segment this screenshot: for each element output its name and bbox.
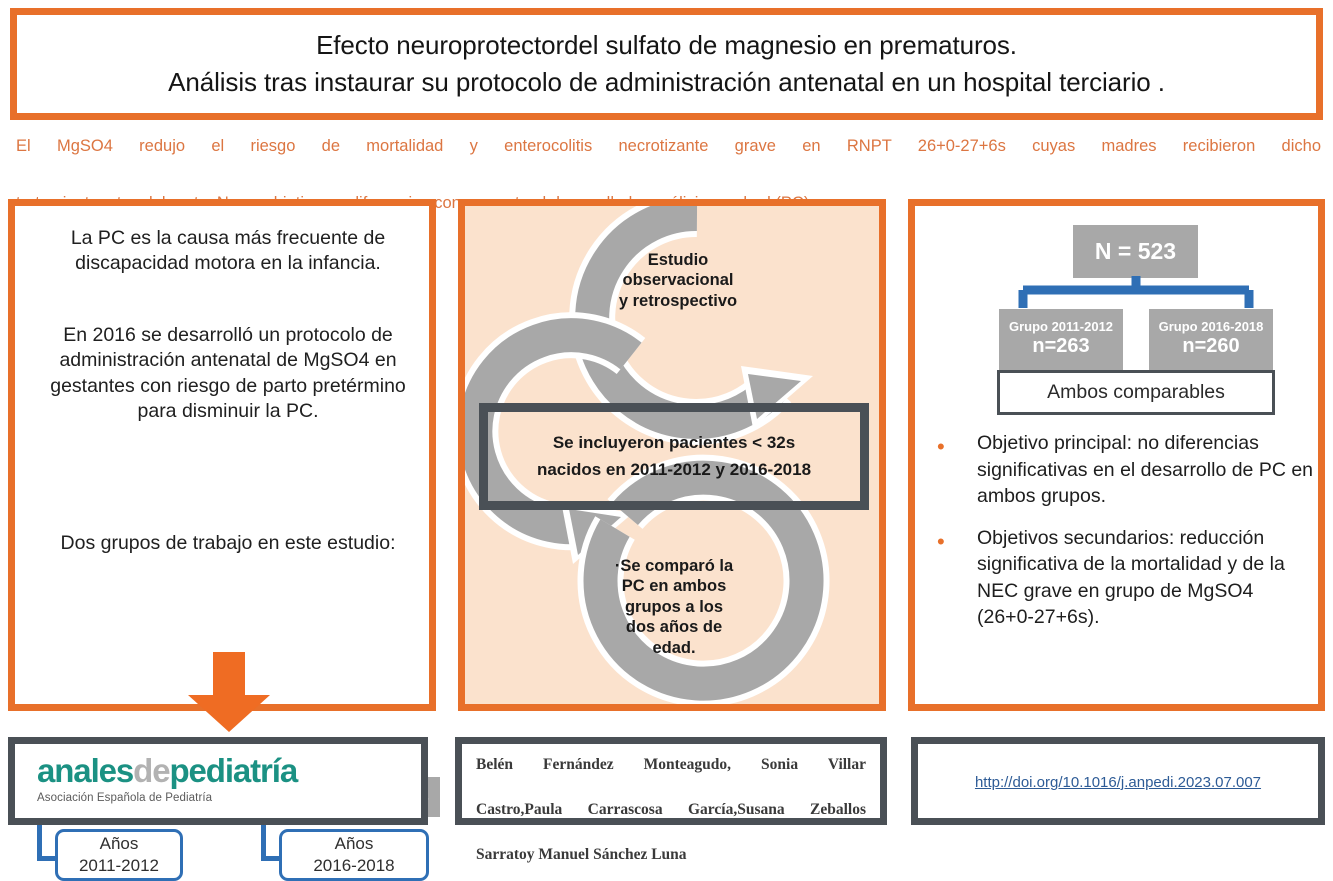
logo-wordmark: analesdepediatría — [37, 754, 367, 789]
journal-logo-box: analesdepediatría Asociación Española de… — [8, 737, 428, 825]
doi-link[interactable]: http://doi.org/10.1016/j.anpedi.2023.07.… — [918, 774, 1318, 791]
anales-de-pediatria-logo: analesdepediatría Asociación Española de… — [37, 754, 367, 804]
cycle-step-1-line-3: y retrospectivo — [619, 292, 737, 310]
cycle-step-1-line-2: observacional — [623, 271, 734, 289]
cycle-step-3-label: ·Se comparó la PC en ambos grupos a los … — [599, 556, 749, 658]
authors-box: Belén Fernández Monteagudo, Sonia Villar… — [455, 737, 887, 825]
cycle-step-1-line-1: Estudio — [648, 251, 709, 269]
years-box-post-protocol: Años 2016-2018 — [279, 829, 429, 881]
cycle-step-1-label: Estudio observacional y retrospectivo — [593, 250, 763, 311]
left-intro-text: La PC es la causa más frecuente de disca… — [31, 226, 425, 277]
years-label-pre: Años — [100, 833, 139, 855]
inclusion-line-1: Se incluyeron pacientes < 32s — [553, 430, 795, 456]
cycle-step-3-line-2: PC en ambos — [622, 577, 727, 595]
objective-item-primary: • Objetivo principal: no diferencias sig… — [931, 430, 1313, 510]
groups-label: Dos grupos de trabajo en este estudio: — [31, 531, 425, 556]
logo-subtitle: Asociación Española de Pediatría — [37, 792, 367, 804]
years-box-pre-protocol: Años 2011-2012 — [55, 829, 183, 881]
bullet-icon: • — [931, 525, 977, 553]
group-node-b-title: Grupo 2016-2018 — [1159, 320, 1264, 334]
group-node-a-title: Grupo 2011-2012 — [1009, 320, 1113, 334]
left-protocol-text: En 2016 se desarrolló un protocolo de ad… — [31, 323, 425, 424]
total-sample-node: N = 523 — [1073, 225, 1198, 278]
logo-word-de: de — [133, 752, 169, 789]
bullet-icon: • — [931, 430, 977, 458]
authors-line-3: Sarratoy Manuel Sánchez Luna — [476, 844, 866, 866]
inclusion-criteria-box: Se incluyeron pacientes < 32s nacidos en… — [479, 403, 869, 510]
authors-text: Belén Fernández Monteagudo, Sonia Villar… — [476, 754, 866, 866]
summary-line-1: El MgSO4 redujo el riesgo de mortalidad … — [16, 132, 1321, 189]
doi-box: http://doi.org/10.1016/j.anpedi.2023.07.… — [911, 737, 1325, 825]
objective-item-secondary: • Objetivos secundarios: reducción signi… — [931, 525, 1313, 631]
authors-line-1: Belén Fernández Monteagudo, Sonia Villar — [476, 754, 866, 799]
inclusion-line-2: nacidos en 2011-2012 y 2016-2018 — [537, 457, 811, 483]
title-banner: Efecto neuroprotectordel sulfato de magn… — [10, 8, 1323, 120]
comparable-box: Ambos comparables — [997, 370, 1275, 415]
cycle-step-3-line-4: dos años de — [626, 618, 722, 636]
group-node-2016-2018: Grupo 2016-2018 n=260 — [1149, 309, 1273, 370]
middle-panel: Estudio observacional y retrospectivo Se… — [458, 199, 886, 711]
cycle-step-3-line-5: edad. — [652, 639, 695, 657]
group-node-b-count: n=260 — [1182, 334, 1239, 359]
group-node-a-count: n=263 — [1032, 334, 1089, 359]
logo-word-anales: anales — [37, 752, 133, 789]
title-line-2: Análisis tras instaurar su protocolo de … — [168, 64, 1165, 101]
cycle-step-3-line-3: grupos a los — [625, 598, 723, 616]
title-line-1: Efecto neuroprotectordel sulfato de magn… — [316, 27, 1017, 64]
objective-primary-text: Objetivo principal: no diferencias signi… — [977, 430, 1313, 510]
tree-connector-icon — [1015, 276, 1257, 310]
cycle-step-3-line-1: ·Se comparó la — [615, 557, 733, 575]
objective-secondary-text: Objetivos secundarios: reducción signifi… — [977, 525, 1313, 631]
left-panel: La PC es la causa más frecuente de disca… — [8, 199, 436, 711]
right-panel: N = 523 Grupo 2011-2012 n=263 Grupo 2016… — [908, 199, 1325, 711]
group-node-2011-2012: Grupo 2011-2012 n=263 — [999, 309, 1123, 370]
down-arrow-icon — [184, 652, 274, 732]
authors-line-2: Castro,Paula Carrascosa García,Susana Ze… — [476, 799, 866, 844]
objectives-list: • Objetivo principal: no diferencias sig… — [931, 430, 1313, 646]
years-value-pre: 2011-2012 — [79, 855, 159, 877]
years-label-post: Años — [335, 833, 374, 855]
years-value-post: 2016-2018 — [313, 855, 394, 877]
logo-word-pediatria: pediatría — [169, 752, 297, 789]
